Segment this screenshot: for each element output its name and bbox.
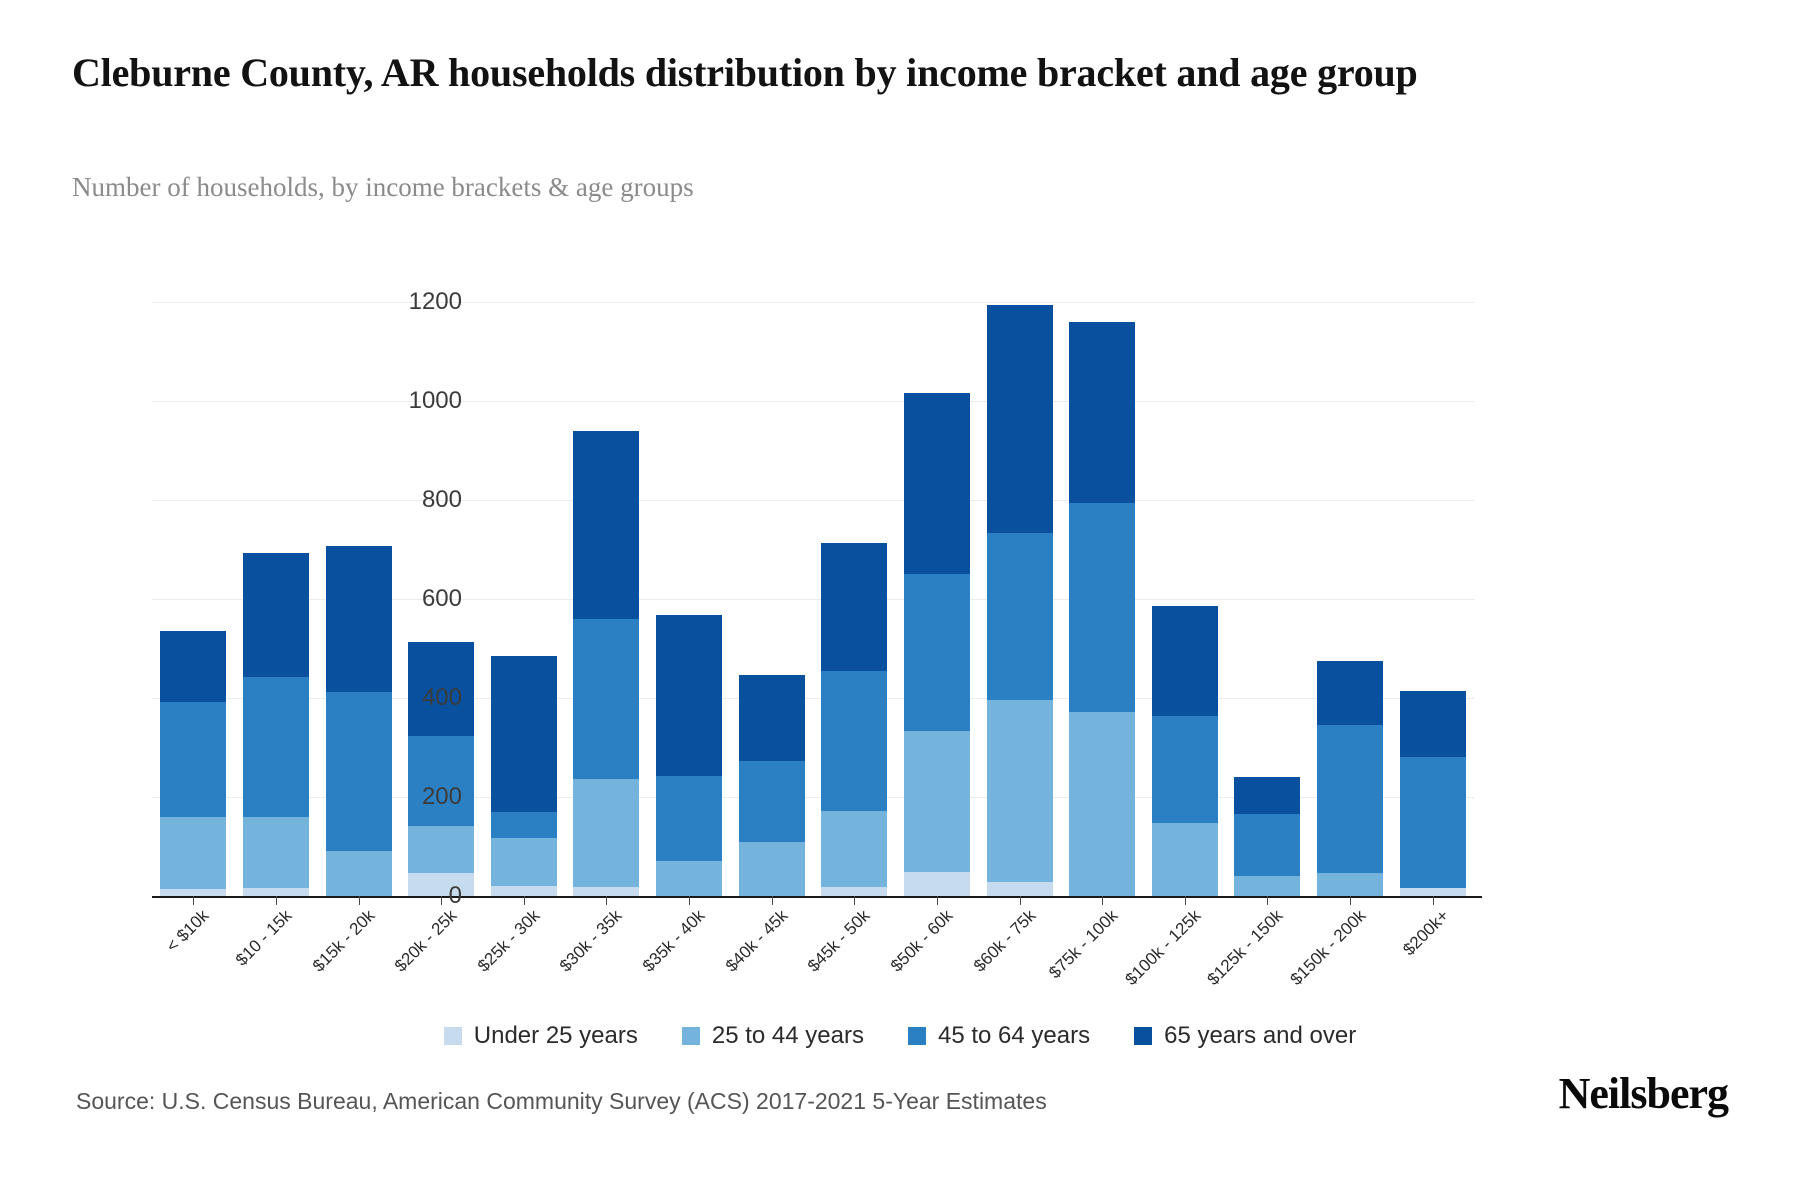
x-axis-tick-label: $200k+ [1399,906,1453,960]
bar-segment[interactable] [1152,716,1218,823]
x-axis-tickmark [937,896,938,905]
bar-segment[interactable] [904,731,970,872]
bar-stack[interactable] [573,431,639,896]
bar-segment[interactable] [1069,322,1135,504]
bar-segment[interactable] [1234,814,1300,876]
bar-segment[interactable] [1400,888,1466,896]
legend-label: 25 to 44 years [712,1022,864,1050]
bar-segment[interactable] [243,677,309,817]
bar-segment[interactable] [1317,661,1383,725]
bar-stack[interactable] [243,553,309,896]
bar-segment[interactable] [904,574,970,731]
bar-segment[interactable] [987,882,1053,896]
legend-item[interactable]: 65 years and over [1134,1022,1356,1050]
x-axis-line [152,896,1482,898]
x-axis-tickmark [359,896,360,905]
bar-segment[interactable] [1400,691,1466,757]
chart-subtitle: Number of households, by income brackets… [72,172,1472,203]
bar-segment[interactable] [739,761,805,841]
legend-label: 45 to 64 years [938,1022,1090,1050]
bar-segment[interactable] [326,692,392,851]
bar-segment[interactable] [821,671,887,811]
y-axis-tick-label: 400 [422,684,462,712]
bars-container [152,302,1474,896]
page-title: Cleburne County, AR households distribut… [72,48,1492,98]
bar-segment[interactable] [1069,503,1135,712]
x-axis-tick-label: $75k - 100k [1045,906,1122,983]
x-axis-tick-label: $15k - 20k [308,906,378,976]
x-axis-tick-label: $40k - 45k [722,906,792,976]
legend-label: Under 25 years [474,1022,638,1050]
bar-segment[interactable] [573,779,639,886]
bar-segment[interactable] [904,872,970,896]
bar-stack[interactable] [1152,606,1218,896]
x-axis-tickmark [1350,896,1351,905]
bar-segment[interactable] [408,826,474,873]
bar-segment[interactable] [160,889,226,896]
x-axis-tickmark [606,896,607,905]
x-axis-tick-label: $20k - 25k [391,906,461,976]
bar-segment[interactable] [1152,823,1218,896]
x-axis-tick-label: $125k - 150k [1204,906,1288,990]
bar-stack[interactable] [1234,777,1300,896]
legend: Under 25 years25 to 44 years45 to 64 yea… [0,1022,1800,1050]
bar-segment[interactable] [1234,777,1300,814]
legend-swatch-icon [908,1027,926,1045]
x-axis-tick-label: $60k - 75k [969,906,1039,976]
x-axis-tickmark [1102,896,1103,905]
bar-segment[interactable] [573,887,639,896]
bar-segment[interactable] [821,811,887,886]
x-axis-tick-label: $150k - 200k [1287,906,1371,990]
x-axis-tickmark [1433,896,1434,905]
x-axis-tickmark [689,896,690,905]
bar-stack[interactable] [904,393,970,896]
bar-segment[interactable] [739,842,805,896]
bar-segment[interactable] [739,675,805,762]
legend-swatch-icon [1134,1027,1152,1045]
bar-segment[interactable] [243,817,309,888]
bar-segment[interactable] [326,546,392,692]
bar-stack[interactable] [987,305,1053,896]
bar-segment[interactable] [408,736,474,826]
x-axis-tick-label: $45k - 50k [804,906,874,976]
bar-segment[interactable] [1069,712,1135,896]
chart-page: Cleburne County, AR households distribut… [0,0,1800,1200]
bar-stack[interactable] [160,631,226,896]
bar-segment[interactable] [987,533,1053,700]
bar-stack[interactable] [656,615,722,896]
x-axis-tickmark [524,896,525,905]
y-axis-tick-label: 1000 [409,387,462,415]
x-axis-tickmark [1020,896,1021,905]
bar-segment[interactable] [987,700,1053,882]
x-axis-tick-label: $10 - 15k [232,906,296,970]
legend-swatch-icon [444,1027,462,1045]
bar-segment[interactable] [491,812,557,838]
bar-stack[interactable] [739,675,805,896]
legend-item[interactable]: 25 to 44 years [682,1022,864,1050]
bar-segment[interactable] [1317,873,1383,896]
bar-stack[interactable] [408,642,474,896]
bar-segment[interactable] [1234,876,1300,896]
x-axis-tick-label: $35k - 40k [639,906,709,976]
legend-label: 65 years and over [1164,1022,1356,1050]
legend-item[interactable]: 45 to 64 years [908,1022,1090,1050]
bar-segment[interactable] [491,838,557,886]
brand-logo: Neilsberg [1559,1068,1728,1119]
bar-segment[interactable] [821,543,887,671]
y-axis-tick-label: 600 [422,585,462,613]
bar-segment[interactable] [573,431,639,620]
bar-stack[interactable] [326,546,392,896]
x-axis-tick-label: $100k - 125k [1121,906,1205,990]
x-axis-tickmark [193,896,194,905]
x-axis-tickmark [1185,896,1186,905]
bar-segment[interactable] [160,702,226,816]
bar-segment[interactable] [1317,725,1383,873]
legend-item[interactable]: Under 25 years [444,1022,638,1050]
bar-segment[interactable] [656,776,722,861]
bar-segment[interactable] [1400,757,1466,888]
bar-segment[interactable] [491,656,557,812]
bar-stack[interactable] [1400,691,1466,896]
x-axis-tick-label: $50k - 60k [887,906,957,976]
y-axis-tick-label: 800 [422,486,462,514]
y-axis-tick-label: 1200 [409,288,462,316]
bar-stack[interactable] [1317,661,1383,896]
y-axis-tick-label: 0 [449,882,462,910]
y-axis-tick-label: 200 [422,783,462,811]
x-axis-tick-label: $30k - 35k [556,906,626,976]
x-axis-tick-label: < $10k [163,906,214,957]
bar-segment[interactable] [821,887,887,896]
bar-segment[interactable] [326,851,392,896]
bar-segment[interactable] [987,305,1053,533]
plot-area [152,302,1474,896]
bar-segment[interactable] [491,886,557,896]
x-axis-tickmark [441,896,442,905]
bar-segment[interactable] [243,888,309,896]
bar-segment[interactable] [408,873,474,896]
bar-segment[interactable] [656,615,722,776]
bar-segment[interactable] [656,861,722,896]
bar-segment[interactable] [1152,606,1218,716]
bar-stack[interactable] [821,543,887,896]
source-note: Source: U.S. Census Bureau, American Com… [76,1088,1047,1115]
bar-segment[interactable] [573,619,639,779]
bar-segment[interactable] [160,817,226,889]
bar-stack[interactable] [1069,322,1135,896]
bar-segment[interactable] [243,553,309,677]
x-axis-tickmark [854,896,855,905]
legend-swatch-icon [682,1027,700,1045]
x-axis-tickmark [276,896,277,905]
bar-segment[interactable] [160,631,226,703]
bar-stack[interactable] [491,656,557,896]
x-axis-tickmark [1267,896,1268,905]
x-axis-tick-label: $25k - 30k [474,906,544,976]
bar-segment[interactable] [904,393,970,575]
x-axis-tickmark [772,896,773,905]
